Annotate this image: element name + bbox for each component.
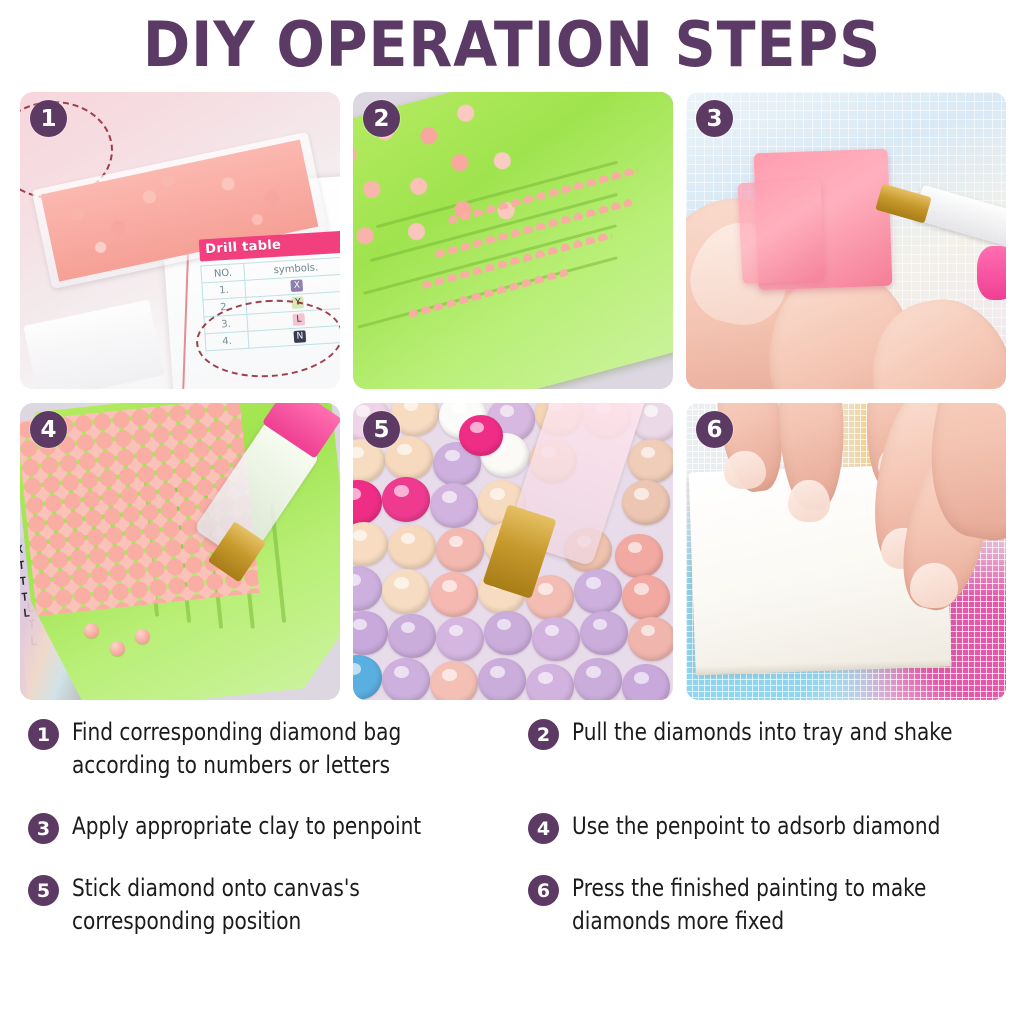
steps-list: 1 Find corresponding diamond bag accordi… [28, 716, 1008, 938]
gem [430, 661, 478, 700]
gem [353, 480, 382, 525]
gem [622, 664, 670, 700]
step-photo-2: V L J X X . T T V X T . L C X T V V H H … [353, 92, 673, 389]
step-badge-1: 1 [28, 719, 59, 750]
panel-badge-5: 5 [363, 411, 400, 448]
photo-pressing-finished-painting [686, 403, 1006, 700]
infographic-page: DIY OPERATION STEPS Drill table NO. [0, 0, 1024, 1024]
photo-placed-diamonds-closeup [353, 403, 673, 700]
gem [436, 528, 484, 573]
gem [628, 439, 673, 484]
drill-table-col-no: NO. [201, 263, 245, 283]
photo-clay-on-penpoint [686, 92, 1006, 389]
gem [615, 534, 663, 579]
gem [353, 566, 382, 611]
step-text-2: Pull the diamonds into tray and shake [572, 716, 952, 749]
panel-badge-4: 4 [30, 411, 67, 448]
step-badge-2: 2 [528, 719, 559, 750]
panel-badge-1: 1 [30, 100, 67, 137]
step-text-4: Use the penpoint to adsorb diamond [572, 810, 940, 843]
gem [532, 617, 580, 662]
step-text-6: Press the finished painting to make diam… [572, 872, 977, 938]
step-photo-6: 6 [686, 403, 1006, 700]
gem [580, 611, 628, 656]
step-item-5: 5 Stick diamond onto canvas's correspond… [28, 872, 528, 938]
step-badge-3: 3 [28, 813, 59, 844]
gem [382, 477, 430, 522]
step-item-6: 6 Press the finished painting to make di… [528, 872, 1008, 938]
gem [353, 611, 388, 656]
gem [436, 617, 484, 662]
step-item-4: 4 Use the penpoint to adsorb diamond [528, 810, 1008, 844]
step-text-1: Find corresponding diamond bag according… [72, 716, 496, 782]
panel-badge-3: 3 [696, 100, 733, 137]
gem [574, 658, 622, 700]
drill-table-cell-no: 1. [202, 280, 246, 300]
gem [353, 522, 388, 567]
step-badge-5: 5 [28, 875, 59, 906]
page-title: DIY OPERATION STEPS [41, 8, 983, 82]
step-photo-1: Drill table NO. symbols. 1. X 2. Y [20, 92, 340, 389]
gem [574, 569, 622, 614]
gem [628, 617, 673, 662]
symbol-swatch: X [291, 279, 304, 292]
step-photo-5: 5 [353, 403, 673, 700]
gem [430, 572, 478, 617]
panel-badge-6: 6 [696, 411, 733, 448]
clay-square-back [738, 179, 826, 284]
gem [478, 658, 526, 700]
gem [484, 611, 532, 656]
fingernail [910, 563, 958, 608]
gem [430, 483, 478, 528]
loose-diamond [135, 629, 150, 644]
loose-diamond [110, 641, 125, 656]
panel-badge-2: 2 [363, 100, 400, 137]
photo-pen-picking-diamond: X . C T . T T L L C T T L C L L T C X . … [20, 403, 340, 700]
steps-photo-grid: Drill table NO. symbols. 1. X 2. Y [20, 92, 1006, 700]
step-item-2: 2 Pull the diamonds into tray and shake [528, 716, 1008, 782]
pen-pink-accent [977, 246, 1006, 299]
step-text-5: Stick diamond onto canvas's correspondin… [72, 872, 496, 938]
gem [382, 569, 430, 614]
step-badge-6: 6 [528, 875, 559, 906]
gem [388, 525, 436, 570]
gem [622, 480, 670, 525]
photo-diamond-bag-and-drill-table: Drill table NO. symbols. 1. X 2. Y [20, 92, 340, 389]
fingernail [788, 480, 830, 522]
gem [526, 664, 574, 700]
gem [622, 575, 670, 620]
step-photo-4: X . C T . T T L L C T T L C L L T C X . … [20, 403, 340, 700]
step-text-3: Apply appropriate clay to penpoint [72, 810, 421, 843]
gem [353, 655, 382, 700]
fingernail [724, 451, 766, 490]
step-badge-4: 4 [528, 813, 559, 844]
gem [388, 614, 436, 659]
loose-diamond [84, 623, 99, 638]
photo-tray-with-diamonds: V L J X X . T T V X T . L C X T V V H H … [353, 92, 673, 389]
gem [382, 658, 430, 700]
step-item-3: 3 Apply appropriate clay to penpoint [28, 810, 528, 844]
step-photo-3: 3 [686, 92, 1006, 389]
step-item-1: 1 Find corresponding diamond bag accordi… [28, 716, 528, 782]
